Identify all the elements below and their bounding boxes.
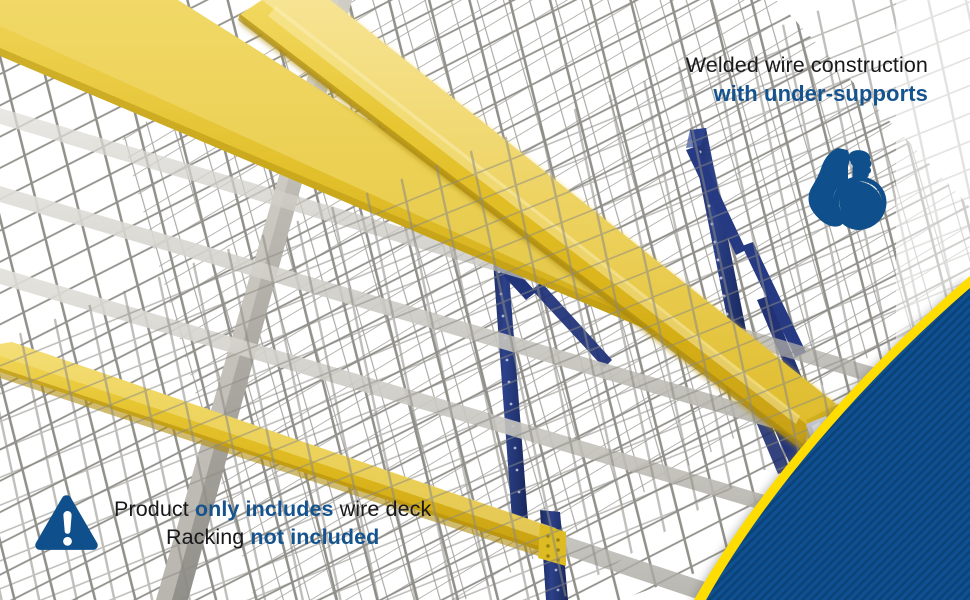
callout-top-line2: with under-supports <box>686 80 928 108</box>
callout-top-right: Welded wire construction with under-supp… <box>686 52 928 108</box>
callout-bottom-line1-post: wire deck <box>334 497 432 521</box>
callout-bottom-line2-pre: Racking <box>166 525 250 549</box>
warning-triangle-icon <box>34 494 100 554</box>
callout-bottom-line1-pre: Product <box>114 497 195 521</box>
callout-bottom-left: Product only includes wire deck Racking … <box>34 494 431 554</box>
callout-bottom-line2-bold: not included <box>250 525 379 549</box>
callout-bottom-line1-bold: only includes <box>195 497 334 521</box>
flexed-bicep-icon <box>808 146 902 230</box>
callout-bottom-text: Product only includes wire deck Racking … <box>114 496 431 551</box>
callout-bottom-line2: Racking not included <box>114 524 431 552</box>
callout-bottom-line1: Product only includes wire deck <box>114 496 431 524</box>
callout-top-line1: Welded wire construction <box>686 52 928 80</box>
banner-stage: Welded wire construction with under-supp… <box>0 0 970 600</box>
